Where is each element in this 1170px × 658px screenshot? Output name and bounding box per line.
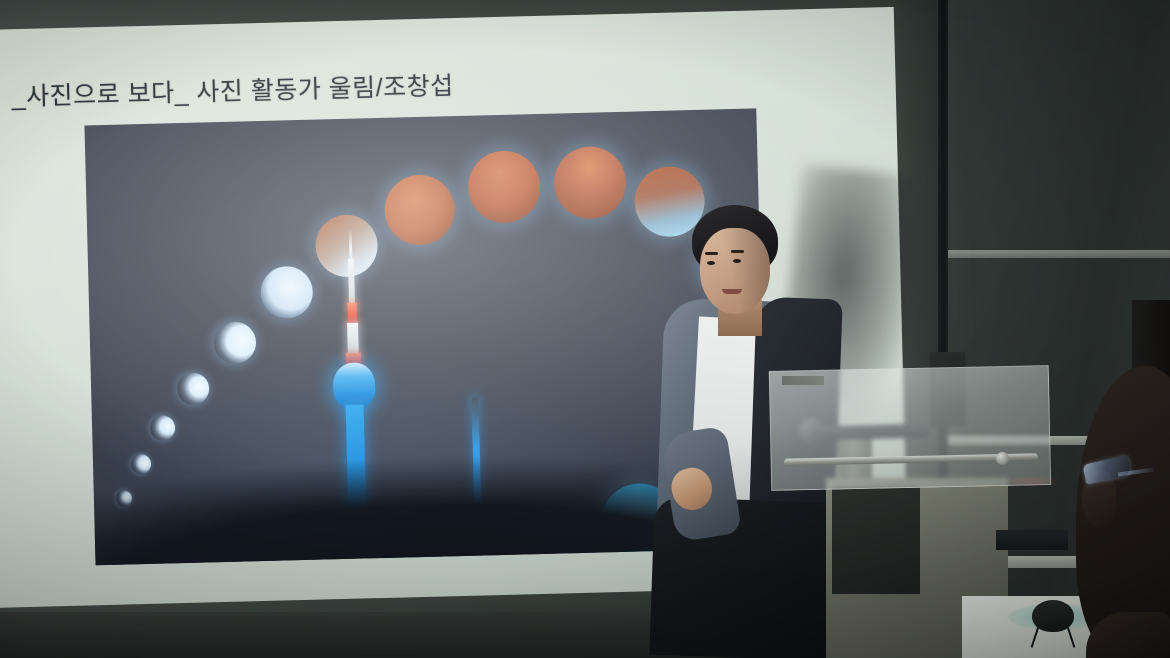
tower-tip bbox=[349, 229, 353, 263]
presenter-face-shading bbox=[700, 228, 770, 314]
slide-title: _사진으로 보다_ 사진 활동가 울림/조창섭 bbox=[11, 66, 454, 113]
tower-red-band bbox=[348, 303, 358, 325]
presenter-brow-left bbox=[705, 252, 718, 255]
presenter-brow-right bbox=[731, 250, 744, 253]
desk-microphone bbox=[1032, 600, 1074, 632]
presentation-photo: _사진으로 보다_ 사진 활동가 울림/조창섭 bbox=[0, 0, 1170, 658]
lectern-panel-marking bbox=[782, 376, 824, 385]
tower-observation-deck bbox=[333, 362, 376, 409]
lectern-rail-knob bbox=[996, 452, 1009, 465]
presenter-eye-right bbox=[733, 259, 741, 263]
lectern-lower-tray bbox=[996, 530, 1068, 550]
wall-shelf-top bbox=[948, 250, 1170, 258]
presenter-mouth bbox=[722, 289, 742, 294]
lectern-body-panel bbox=[832, 488, 920, 594]
presenter-eye-left bbox=[707, 261, 715, 265]
